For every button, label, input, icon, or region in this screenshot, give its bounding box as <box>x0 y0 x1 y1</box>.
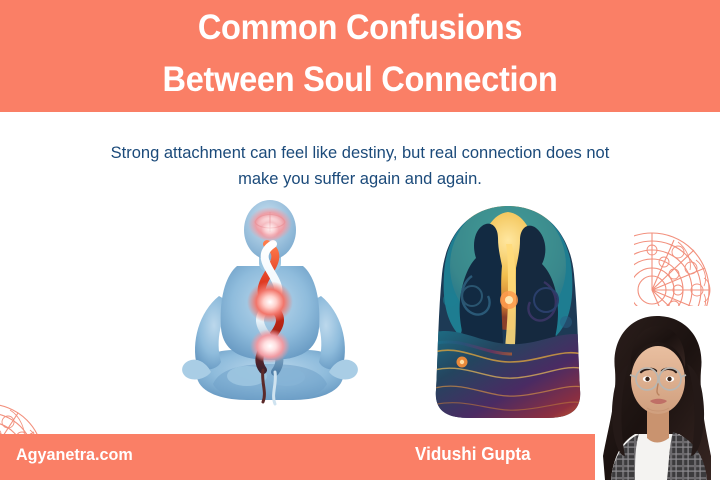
mandala-decoration-left-icon <box>0 400 66 434</box>
meditation-figure-illustration <box>175 200 365 422</box>
author-name: Vidushi Gupta <box>415 444 531 465</box>
title-line-1: Common Confusions <box>25 2 695 54</box>
page-title: Common Confusions Between Soul Connectio… <box>25 2 695 112</box>
quote-text: Strong attachment can feel like destiny,… <box>110 140 610 192</box>
couple-soul-connection-artwork <box>428 204 588 422</box>
header-band: Common Confusions Between Soul Connectio… <box>0 0 720 112</box>
site-name[interactable]: Agyanetra.com <box>16 445 133 465</box>
quote-card: Common Confusions Between Soul Connectio… <box>0 0 720 480</box>
title-line-2: Between Soul Connection <box>25 54 695 106</box>
author-portrait-photo <box>595 306 720 480</box>
